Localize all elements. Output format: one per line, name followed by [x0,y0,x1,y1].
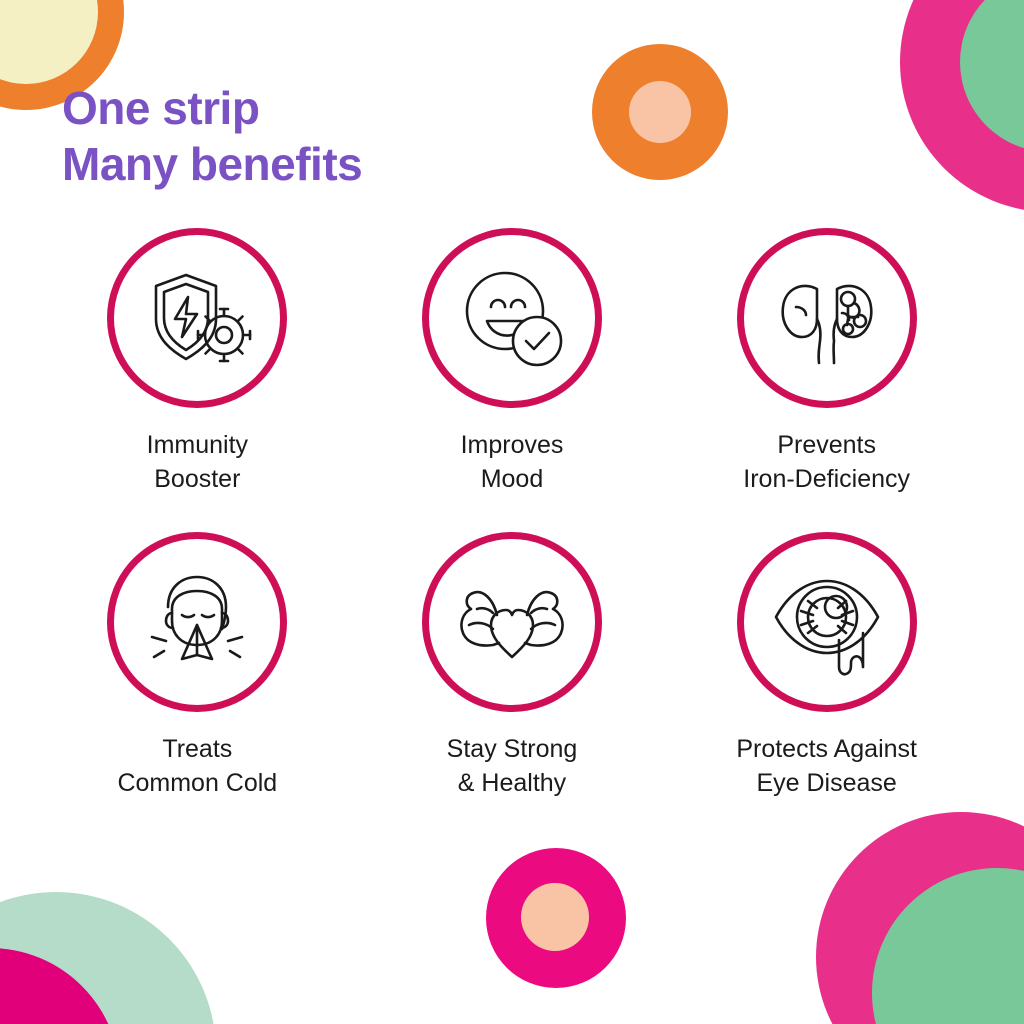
benefit-icon-ring [737,532,917,712]
benefit-label: Treats Common Cold [117,732,277,800]
benefit-item-improves-mood: Improves Mood [355,228,670,496]
shield-virus-icon [138,259,256,377]
benefit-item-stay-strong-healthy: Stay Strong & Healthy [355,532,670,800]
benefit-icon-ring [107,532,287,712]
benefit-icon-ring [422,228,602,408]
page-title: One strip Many benefits [62,80,362,192]
sneezing-face-icon [138,563,256,681]
kidneys-icon [768,259,886,377]
benefit-label: Prevents Iron-Deficiency [743,428,910,496]
benefit-label: Protects Against Eye Disease [736,732,917,800]
corner-circle-bottom-right-ring [816,812,1024,1024]
benefit-label: Stay Strong & Healthy [447,732,578,800]
donut-top-center-inner [629,81,691,143]
benefits-grid: Immunity Booster Improves Mood [40,228,984,800]
benefit-item-prevents-iron-deficiency: Prevents Iron-Deficiency [669,228,984,496]
eye-drip-icon [768,563,886,681]
corner-circle-bottom-left-inner [0,948,120,1024]
benefit-item-immunity-booster: Immunity Booster [40,228,355,496]
benefit-label: Improves Mood [461,428,564,496]
corner-circle-bottom-right-inner [872,868,1024,1024]
corner-circle-top-left-inner [0,0,98,84]
flexing-arms-heart-icon [453,563,571,681]
benefit-label: Immunity Booster [147,428,248,496]
donut-bottom-center-inner [521,883,589,951]
donut-bottom-center-ring [486,848,626,988]
corner-circle-bottom-left-ring [0,892,216,1024]
benefit-icon-ring [107,228,287,408]
benefit-icon-ring [737,228,917,408]
corner-circle-top-right-inner [960,0,1024,152]
benefits-infographic: One strip Many benefits Immunit [0,0,1024,1024]
smiley-check-icon [453,259,571,377]
benefit-item-treats-common-cold: Treats Common Cold [40,532,355,800]
corner-circle-top-right-ring [900,0,1024,212]
benefit-icon-ring [422,532,602,712]
donut-top-center-ring [592,44,728,180]
benefit-item-protects-eye-disease: Protects Against Eye Disease [669,532,984,800]
